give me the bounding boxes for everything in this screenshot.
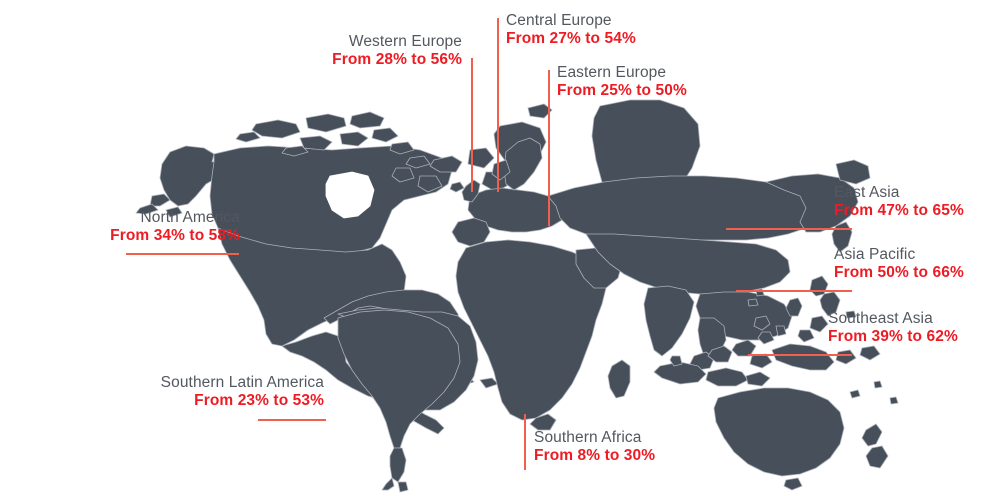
region-stat-southeast-asia: From 39% to 62%: [828, 328, 958, 346]
region-stat-western-europe: From 28% to 56%: [332, 51, 462, 69]
region-name-north-america: North America: [110, 209, 240, 227]
region-stat-southern-latin-america: From 23% to 53%: [161, 392, 324, 410]
world-map-infographic: Western Europe From 28% to 56% Central E…: [0, 0, 1000, 496]
label-southern-africa: Southern Africa From 8% to 30%: [534, 429, 655, 466]
region-name-southeast-asia: Southeast Asia: [828, 310, 958, 328]
connector-central-europe: [497, 18, 499, 192]
label-southeast-asia: Southeast Asia From 39% to 62%: [828, 310, 958, 347]
label-central-europe: Central Europe From 27% to 54%: [506, 12, 636, 49]
connector-southern-latin-america: [258, 419, 326, 421]
label-eastern-europe: Eastern Europe From 25% to 50%: [557, 64, 687, 101]
label-east-asia: East Asia From 47% to 65%: [834, 184, 964, 221]
connector-asia-pacific: [736, 290, 852, 292]
region-name-southern-latin-america: Southern Latin America: [161, 374, 324, 392]
region-name-central-europe: Central Europe: [506, 12, 636, 30]
connector-eastern-europe: [548, 70, 550, 226]
region-stat-eastern-europe: From 25% to 50%: [557, 82, 687, 100]
label-north-america: North America From 34% to 58%: [110, 209, 240, 246]
connector-western-europe: [471, 58, 473, 192]
region-stat-central-europe: From 27% to 54%: [506, 30, 636, 48]
region-stat-east-asia: From 47% to 65%: [834, 202, 964, 220]
region-name-southern-africa: Southern Africa: [534, 429, 655, 447]
connector-east-asia: [726, 228, 852, 230]
label-western-europe: Western Europe From 28% to 56%: [332, 33, 462, 70]
label-southern-latin-america: Southern Latin America From 23% to 53%: [161, 374, 324, 411]
connector-southeast-asia: [748, 354, 852, 356]
connector-north-america: [126, 253, 239, 255]
region-name-western-europe: Western Europe: [332, 33, 462, 51]
region-name-eastern-europe: Eastern Europe: [557, 64, 687, 82]
region-name-east-asia: East Asia: [834, 184, 964, 202]
region-name-asia-pacific: Asia Pacific: [834, 246, 964, 264]
region-stat-north-america: From 34% to 58%: [110, 227, 240, 245]
label-asia-pacific: Asia Pacific From 50% to 66%: [834, 246, 964, 283]
connector-southern-africa: [524, 414, 526, 470]
region-stat-asia-pacific: From 50% to 66%: [834, 264, 964, 282]
region-stat-southern-africa: From 8% to 30%: [534, 447, 655, 465]
